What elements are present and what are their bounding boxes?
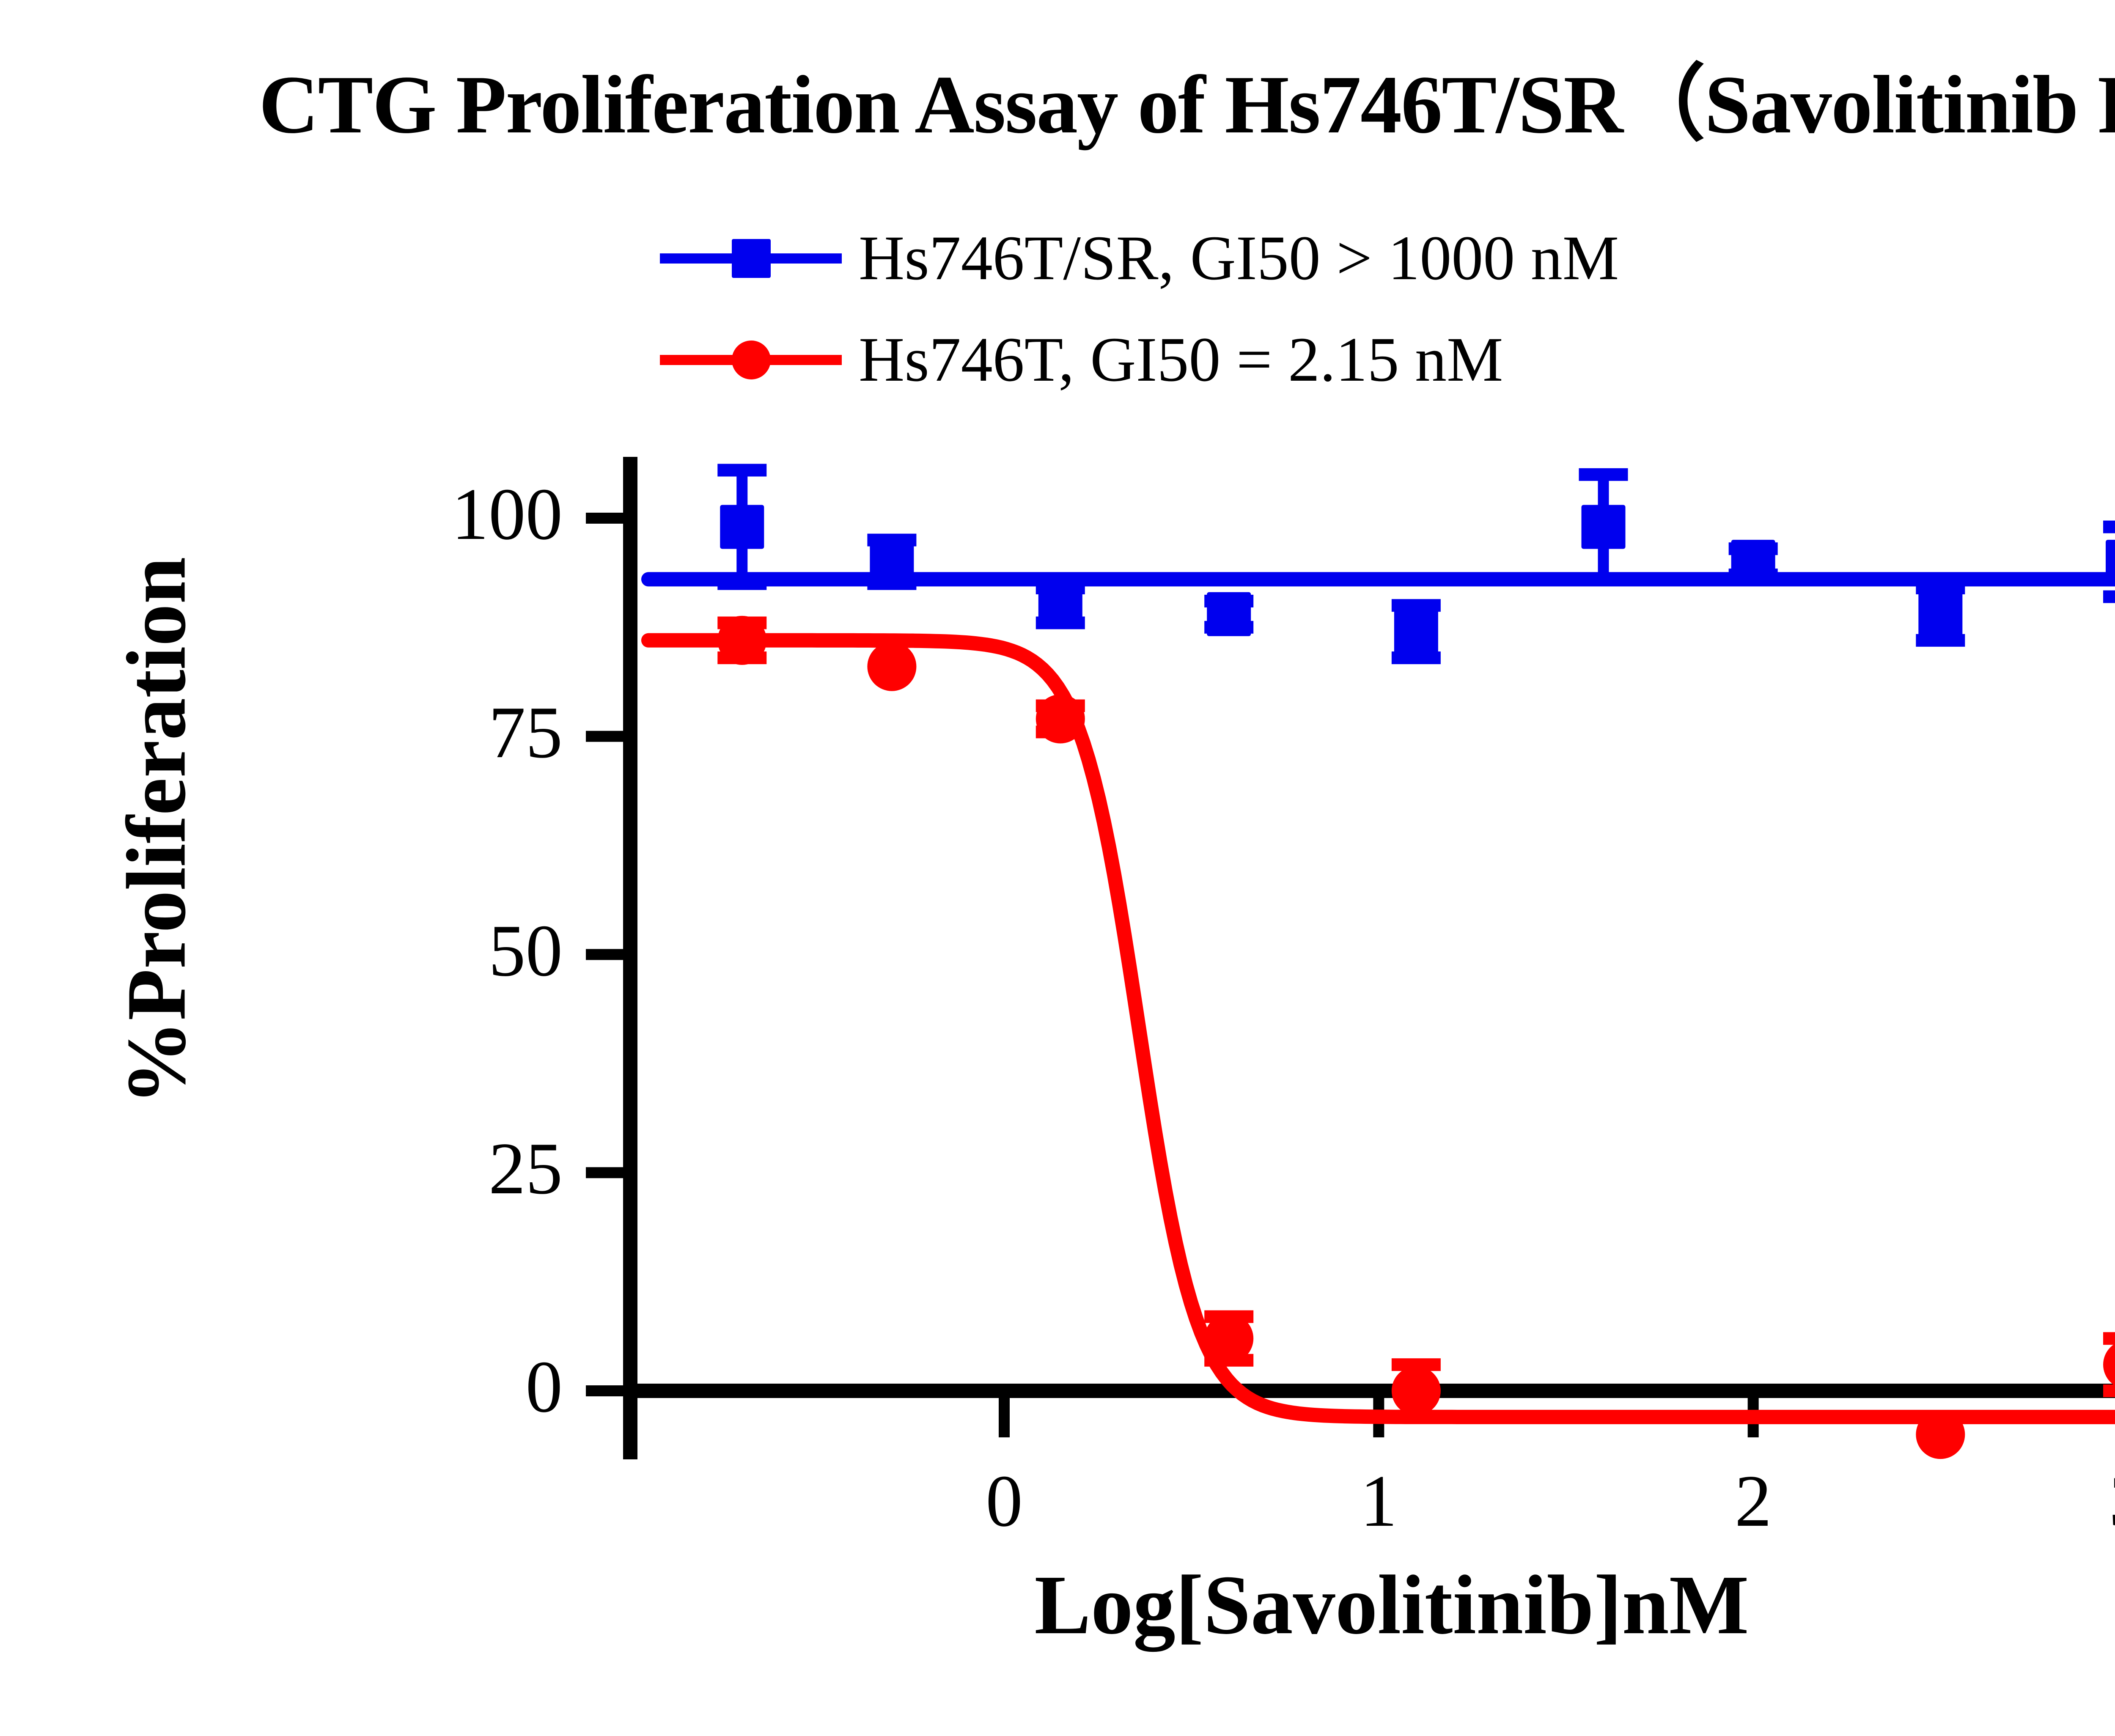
data-point[interactable] xyxy=(1204,1314,1253,1363)
y-tick-label: 50 xyxy=(309,908,563,993)
y-axis-label-wrap: %Proliferation xyxy=(108,493,205,1170)
y-axis-label: %Proliferation xyxy=(110,557,203,1105)
data-point[interactable] xyxy=(1392,1366,1441,1415)
data-point[interactable] xyxy=(867,642,916,691)
fit-curve-1 xyxy=(648,640,2115,1417)
data-point[interactable] xyxy=(2106,540,2115,584)
x-tick-label: 1 xyxy=(1315,1459,1442,1544)
data-point[interactable] xyxy=(1038,583,1082,627)
data-point[interactable] xyxy=(870,540,914,584)
data-point[interactable] xyxy=(1918,592,1962,636)
data-point[interactable] xyxy=(1036,694,1085,743)
y-tick-label: 100 xyxy=(309,472,563,557)
plot-area: 02550751000123 xyxy=(0,0,2115,1736)
y-tick-label: 75 xyxy=(309,690,563,775)
y-tick-label: 25 xyxy=(309,1126,563,1211)
x-tick-label: 2 xyxy=(1690,1459,1817,1544)
data-point[interactable] xyxy=(1582,505,1626,549)
data-point[interactable] xyxy=(1916,1410,1965,1459)
series-1 xyxy=(648,616,2115,1459)
y-tick-label: 0 xyxy=(309,1344,563,1429)
series-0 xyxy=(648,470,2115,658)
x-tick-label: 0 xyxy=(941,1459,1068,1544)
data-point[interactable] xyxy=(1731,540,1775,584)
data-point[interactable] xyxy=(720,505,764,549)
x-axis-label: Log[Savolitinib]nM xyxy=(630,1557,2115,1654)
data-point[interactable] xyxy=(2103,1340,2115,1389)
figure-root: CTG Proliferation Assay of Hs746T/SR（Sav… xyxy=(0,0,2115,1736)
data-point[interactable] xyxy=(717,616,766,665)
x-tick-label: 3 xyxy=(2064,1459,2115,1544)
data-point[interactable] xyxy=(1207,592,1251,636)
data-point[interactable] xyxy=(1394,610,1438,654)
